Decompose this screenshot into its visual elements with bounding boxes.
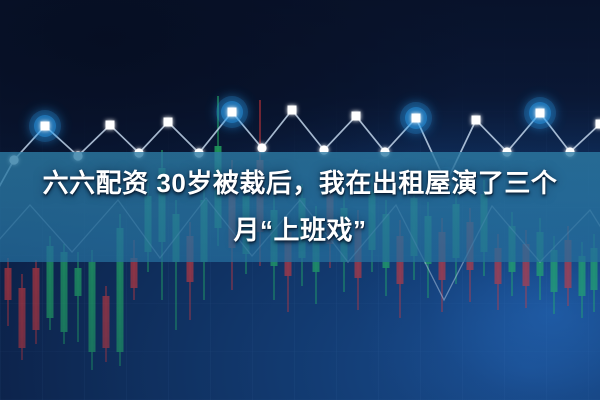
headline-text: 六六配资 30岁被裁后，我在出租屋演了三个月“上班戏”	[0, 160, 600, 254]
banner-image: 六六配资 30岁被裁后，我在出租屋演了三个月“上班戏”	[0, 0, 600, 400]
